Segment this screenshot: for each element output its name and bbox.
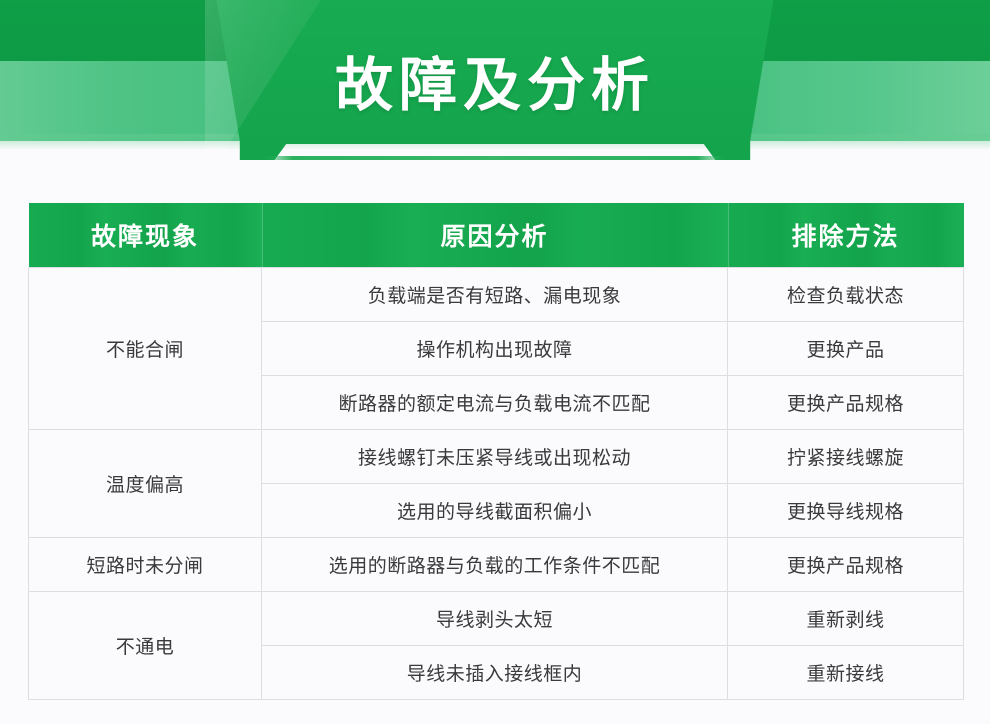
cell-cause: 导线剥头太短 xyxy=(262,592,728,646)
column-header-remedy: 排除方法 xyxy=(728,203,964,268)
fault-analysis-table: 故障现象 原因分析 排除方法 不能合闸负载端是否有短路、漏电现象检查负载状态操作… xyxy=(28,203,964,700)
banner-underline-stroke xyxy=(265,156,725,160)
cell-remedy: 拧紧接线螺旋 xyxy=(728,430,964,484)
column-header-cause: 原因分析 xyxy=(262,203,728,268)
fault-analysis-table-wrapper: 故障现象 原因分析 排除方法 不能合闸负载端是否有短路、漏电现象检查负载状态操作… xyxy=(28,203,963,700)
table-row: 温度偏高接线螺钉未压紧导线或出现松动拧紧接线螺旋 xyxy=(29,430,964,484)
column-header-symptom: 故障现象 xyxy=(29,203,262,268)
table-header: 故障现象 原因分析 排除方法 xyxy=(29,203,964,268)
cell-cause: 选用的导线截面积偏小 xyxy=(262,484,728,538)
cell-remedy: 重新剥线 xyxy=(728,592,964,646)
cell-remedy: 更换产品规格 xyxy=(728,538,964,592)
table-header-row: 故障现象 原因分析 排除方法 xyxy=(29,203,964,268)
cell-remedy: 重新接线 xyxy=(728,646,964,700)
cell-remedy: 检查负载状态 xyxy=(728,268,964,322)
table-body: 不能合闸负载端是否有短路、漏电现象检查负载状态操作机构出现故障更换产品断路器的额… xyxy=(29,268,964,700)
cell-cause: 选用的断路器与负载的工作条件不匹配 xyxy=(262,538,728,592)
cell-symptom: 短路时未分闸 xyxy=(29,538,262,592)
cell-symptom: 不能合闸 xyxy=(29,268,262,430)
cell-cause: 操作机构出现故障 xyxy=(262,322,728,376)
cell-remedy: 更换产品规格 xyxy=(728,376,964,430)
bottom-fade xyxy=(0,702,990,724)
cell-symptom: 温度偏高 xyxy=(29,430,262,538)
cell-cause: 导线未插入接线框内 xyxy=(262,646,728,700)
cell-cause: 接线螺钉未压紧导线或出现松动 xyxy=(262,430,728,484)
table-row: 不通电导线剥头太短重新剥线 xyxy=(29,592,964,646)
cell-cause: 断路器的额定电流与负载电流不匹配 xyxy=(262,376,728,430)
cell-symptom: 不通电 xyxy=(29,592,262,700)
cell-remedy: 更换产品 xyxy=(728,322,964,376)
table-row: 不能合闸负载端是否有短路、漏电现象检查负载状态 xyxy=(29,268,964,322)
table-row: 短路时未分闸选用的断路器与负载的工作条件不匹配更换产品规格 xyxy=(29,538,964,592)
page-title: 故障及分析 xyxy=(0,50,990,122)
cell-remedy: 更换导线规格 xyxy=(728,484,964,538)
cell-cause: 负载端是否有短路、漏电现象 xyxy=(262,268,728,322)
page-banner: 故障及分析 xyxy=(0,0,990,178)
